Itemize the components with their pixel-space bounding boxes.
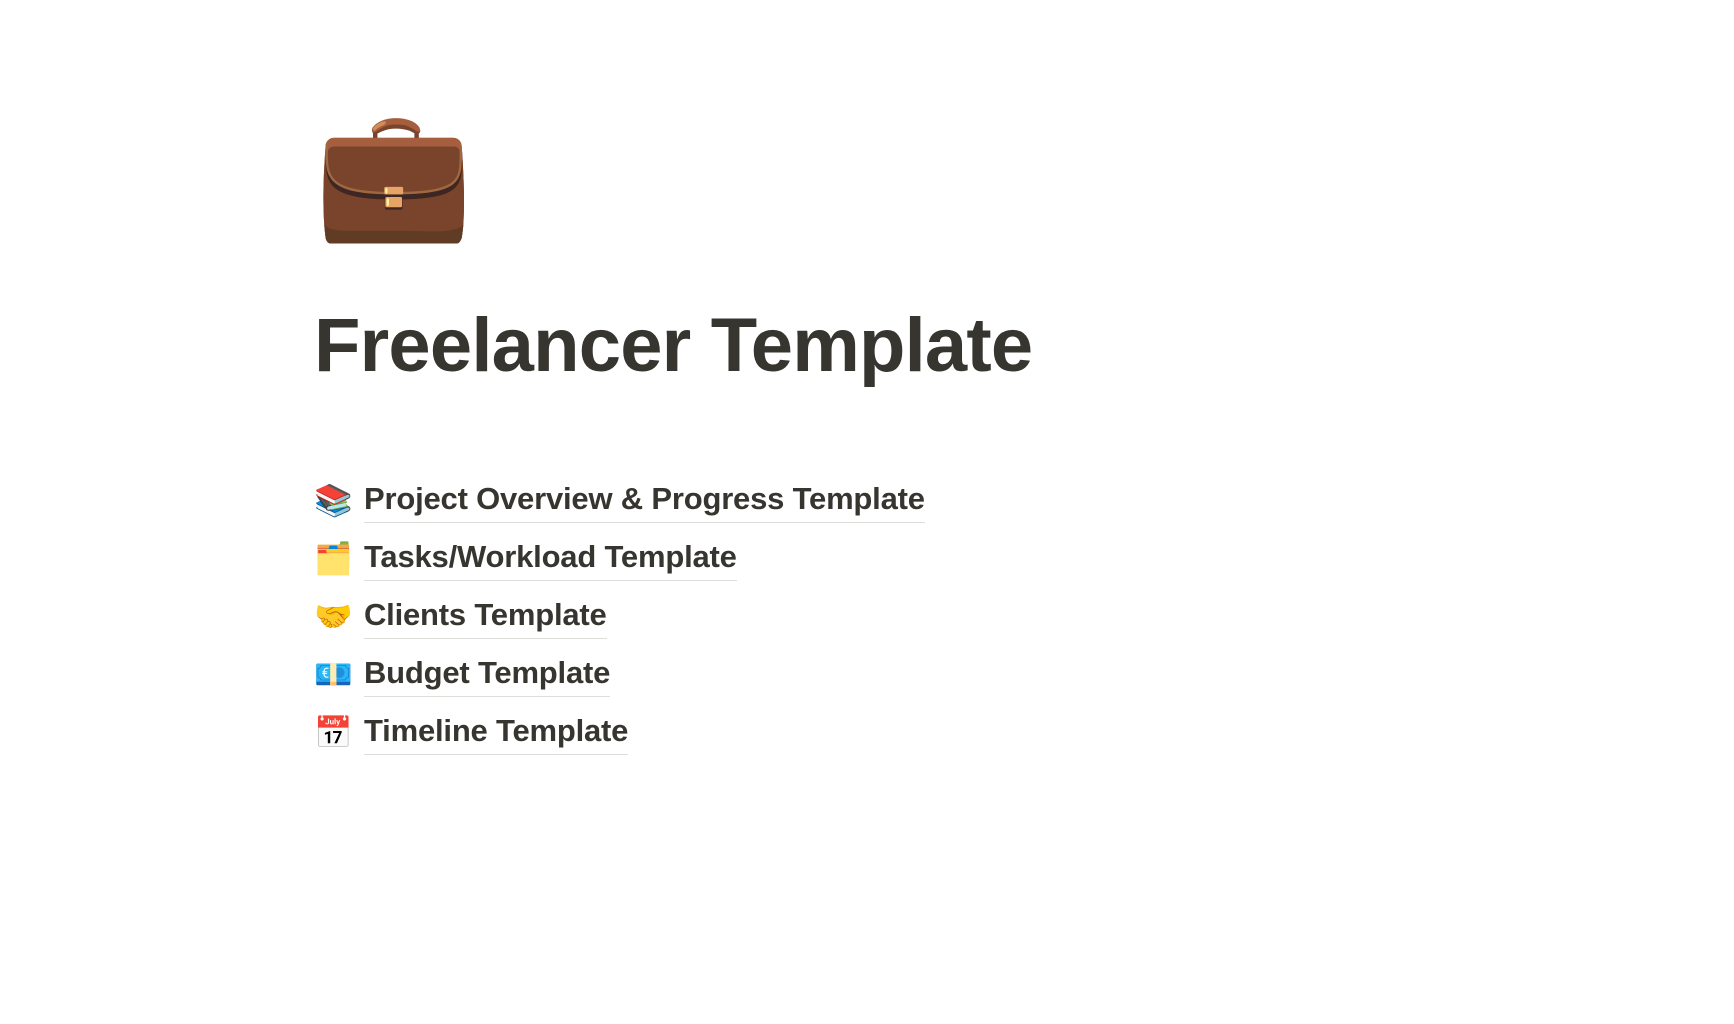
link-timeline-template[interactable]: Timeline Template (364, 711, 628, 755)
euro-banknote-emoji: 💶 (314, 655, 364, 695)
list-item[interactable]: 🤝 Clients Template (314, 588, 1414, 646)
card-index-dividers-emoji: 🗂️ (314, 539, 364, 579)
page-title[interactable]: Freelancer Template (314, 300, 1414, 392)
link-clients-template[interactable]: Clients Template (364, 595, 607, 639)
notion-page: 💼 Freelancer Template 📚 Project Overview… (0, 0, 1734, 1024)
books-emoji: 📚 (314, 481, 364, 521)
link-project-overview-progress-template[interactable]: Project Overview & Progress Template (364, 479, 925, 523)
link-budget-template[interactable]: Budget Template (364, 653, 610, 697)
list-item[interactable]: 📅 Timeline Template (314, 704, 1414, 762)
calendar-emoji: 📅 (314, 713, 364, 753)
list-item[interactable]: 💶 Budget Template (314, 646, 1414, 704)
page-link-list: 📚 Project Overview & Progress Template 🗂… (314, 472, 1414, 762)
handshake-emoji: 🤝 (314, 597, 364, 637)
list-item[interactable]: 📚 Project Overview & Progress Template (314, 472, 1414, 530)
list-item[interactable]: 🗂️ Tasks/Workload Template (314, 530, 1414, 588)
link-tasks-workload-template[interactable]: Tasks/Workload Template (364, 537, 737, 581)
page-content: 💼 Freelancer Template 📚 Project Overview… (314, 0, 1414, 762)
briefcase-emoji[interactable]: 💼 (314, 104, 1414, 244)
